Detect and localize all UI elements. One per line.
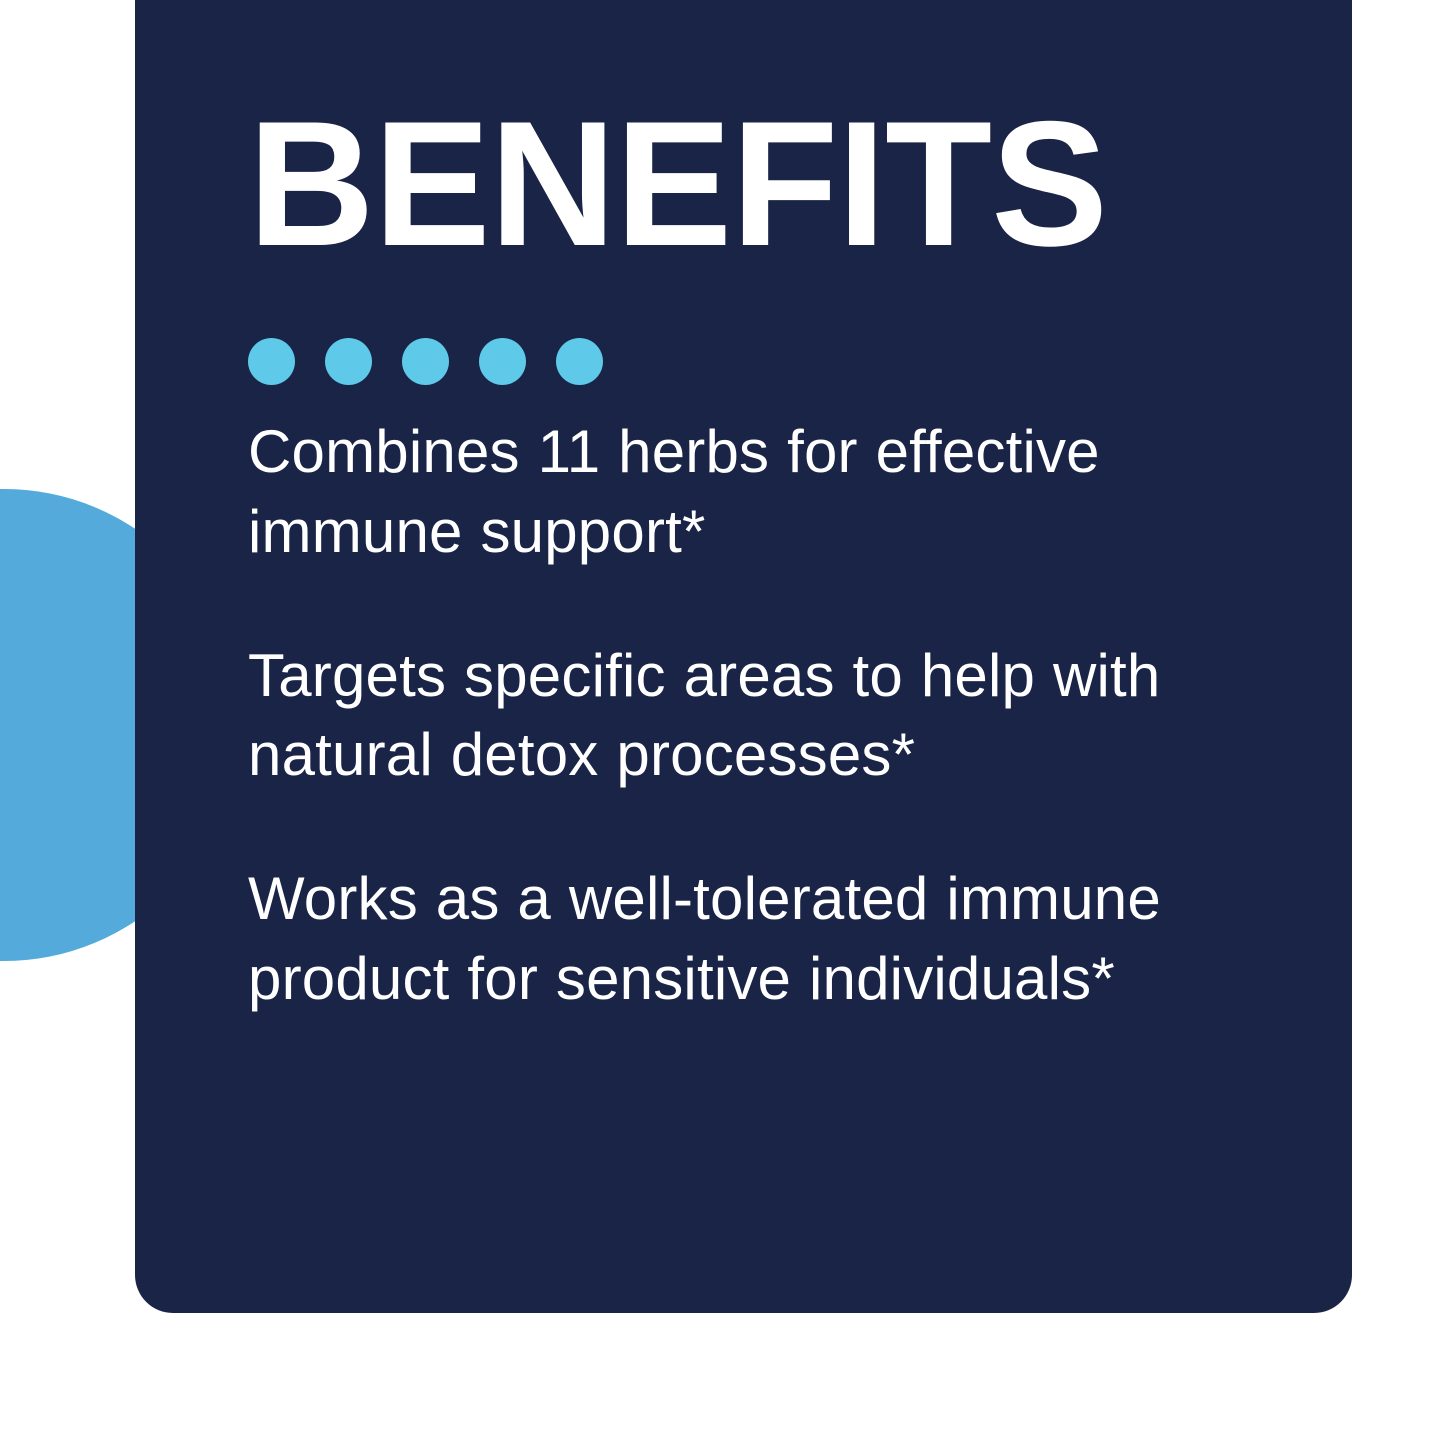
divider-dot-icon-3 bbox=[402, 338, 449, 385]
benefits-graphic: BENEFITS Combines 11 herbs for effective… bbox=[0, 0, 1445, 1445]
benefits-card: BENEFITS Combines 11 herbs for effective… bbox=[135, 0, 1352, 1313]
benefits-list: Combines 11 herbs for effective immune s… bbox=[248, 412, 1278, 1019]
divider-dot-icon-2 bbox=[325, 338, 372, 385]
page-title: BENEFITS bbox=[248, 95, 1107, 273]
list-item: Targets specific areas to help with natu… bbox=[248, 636, 1288, 796]
benefits-card-content: BENEFITS Combines 11 herbs for effective… bbox=[248, 0, 1352, 1313]
divider-dot-icon-4 bbox=[479, 338, 526, 385]
divider-dot-icon-5 bbox=[556, 338, 603, 385]
divider-dot-icon-1 bbox=[248, 338, 295, 385]
dot-divider bbox=[248, 338, 603, 385]
list-item: Works as a well-tolerated immune product… bbox=[248, 859, 1278, 1019]
list-item: Combines 11 herbs for effective immune s… bbox=[248, 412, 1278, 572]
